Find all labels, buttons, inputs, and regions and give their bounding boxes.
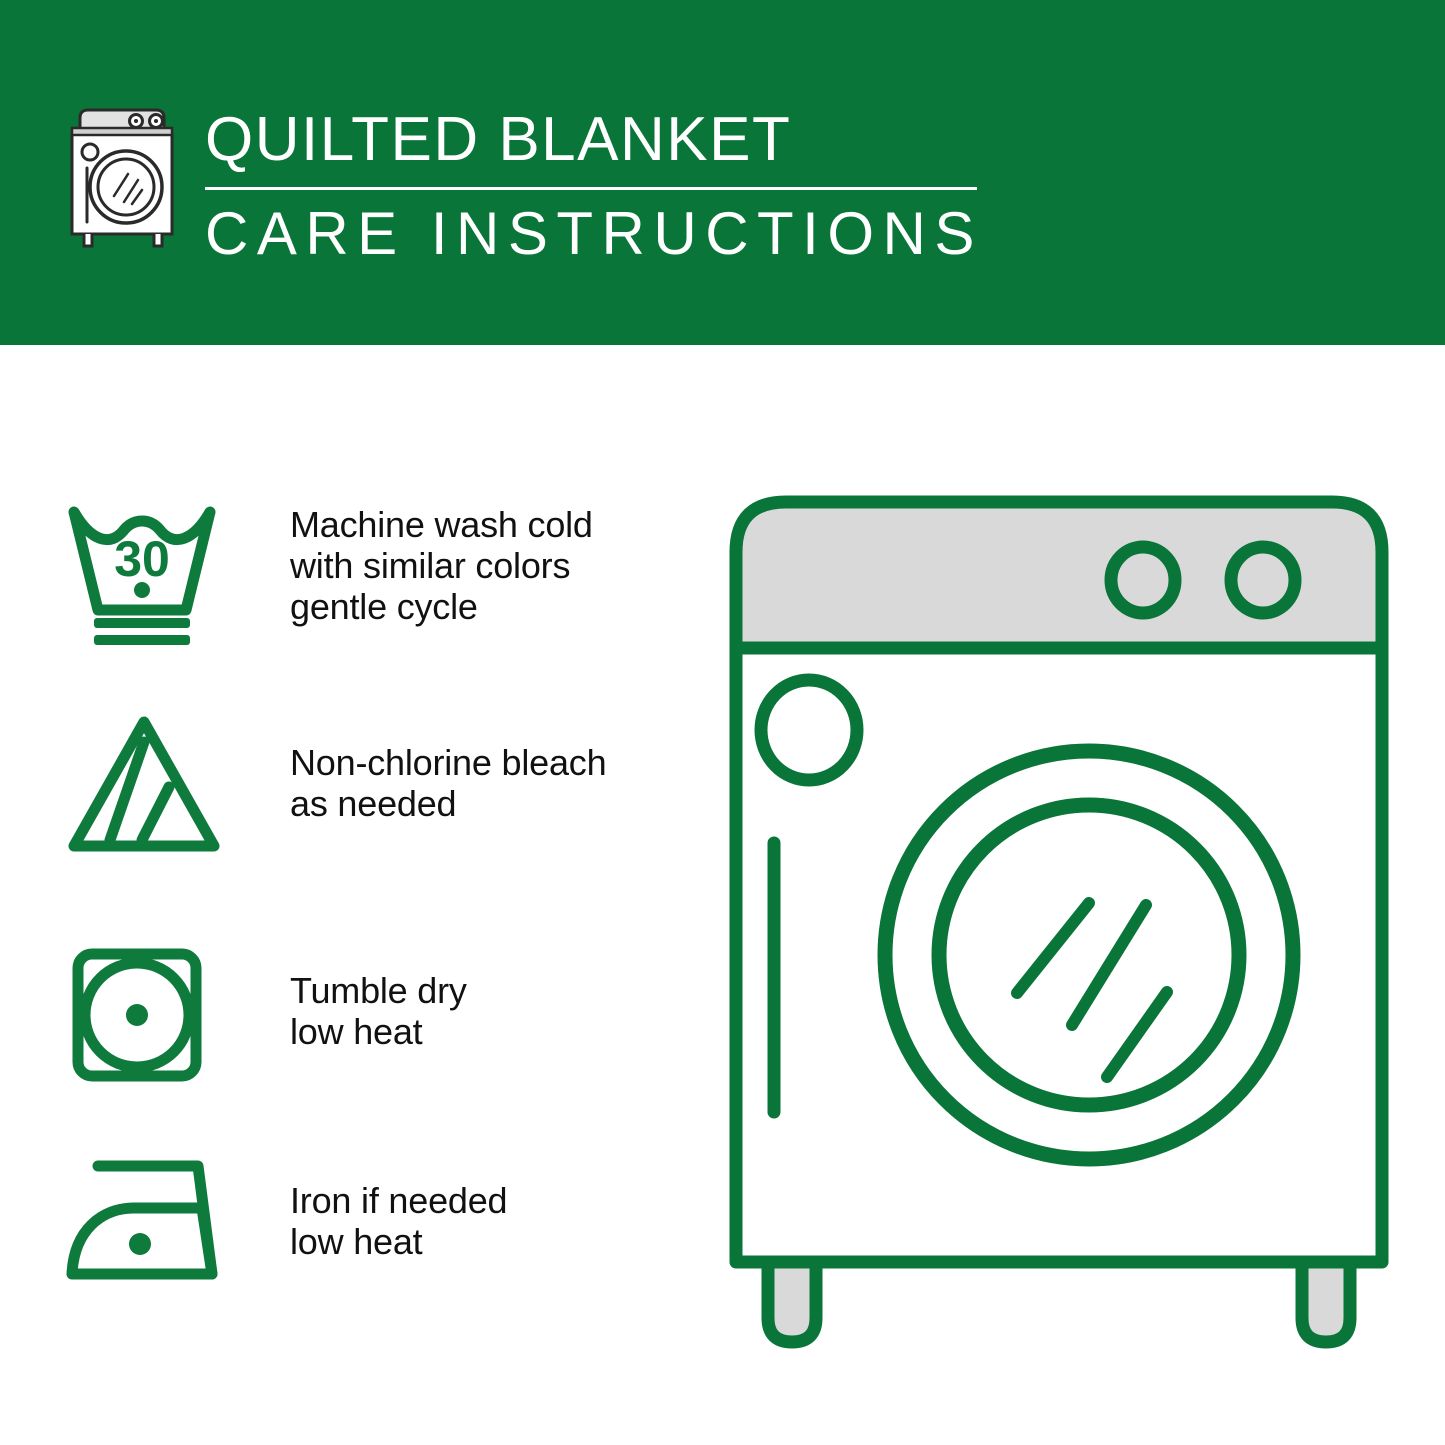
washing-machine-icon [62,104,184,252]
care-label-line: with similar colors [290,545,593,586]
care-label-line: Non-chlorine bleach [290,742,606,783]
leg-left [768,1262,816,1342]
svg-text:30: 30 [114,531,170,587]
non-chlorine-bleach-triangle-icon [62,712,242,857]
control-panel [736,502,1382,648]
tumble-dry-low-icon [62,940,242,1090]
care-label-line: Machine wash cold [290,504,593,545]
care-label-line: as needed [290,783,606,824]
care-instructions-page: QUILTED BLANKET CARE INSTRUCTIONS 30 Mac… [0,0,1445,1445]
door-shine-lines [1017,903,1167,1077]
care-label-line: gentle cycle [290,586,593,627]
wash-tub-30-icon: 30 [62,498,242,653]
care-instruction-row-bleach: Non-chlorine bleach as needed [62,712,682,857]
header-band: QUILTED BLANKET CARE INSTRUCTIONS [0,0,1445,345]
header-text-block: QUILTED BLANKET CARE INSTRUCTIONS [205,103,980,270]
care-label-line: Tumble dry [290,970,467,1011]
page-title: QUILTED BLANKET [205,103,980,177]
care-label-line: low heat [290,1221,507,1262]
front-load-washing-machine-illustration [714,480,1404,1360]
care-label-bleach: Non-chlorine bleach as needed [242,712,606,824]
care-instruction-row-iron: Iron if needed low heat [62,1152,682,1287]
care-instruction-row-dry: Tumble dry low heat [62,940,682,1090]
door-inner-ring [939,805,1239,1105]
care-label-line: Iron if needed [290,1180,507,1221]
iron-low-heat-icon [62,1152,242,1287]
leg-right [1302,1262,1350,1342]
care-instruction-row-wash: 30 Machine wash cold with similar colors… [62,498,682,653]
care-label-wash: Machine wash cold with similar colors ge… [242,498,593,627]
care-label-iron: Iron if needed low heat [242,1152,507,1262]
detergent-indicator [761,680,857,780]
care-label-line: low heat [290,1011,467,1052]
title-divider [205,187,977,190]
page-subtitle: CARE INSTRUCTIONS [205,198,980,270]
care-label-dry: Tumble dry low heat [242,940,467,1052]
